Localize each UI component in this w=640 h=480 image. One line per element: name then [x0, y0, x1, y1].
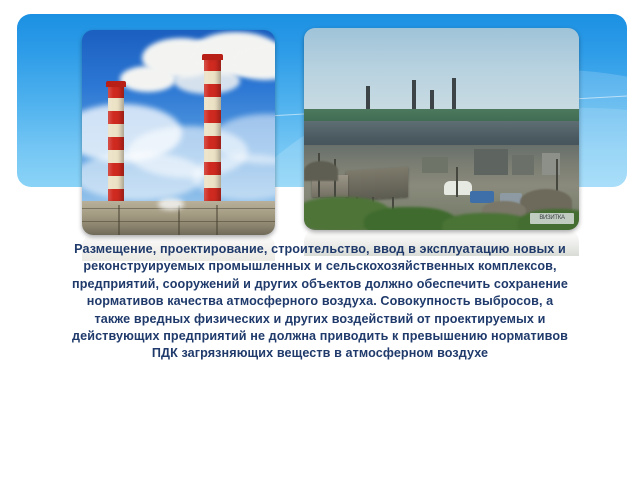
utility-pole-4	[556, 159, 558, 191]
building-2	[512, 155, 534, 175]
photo-industrial-town[interactable]: ВИЗИТКА	[304, 28, 579, 230]
smoke-plume-4	[120, 66, 176, 92]
building-4	[422, 157, 448, 173]
sky-haze	[304, 28, 579, 121]
utility-pole-3	[456, 167, 458, 197]
building-1	[474, 149, 508, 175]
smokestack-left	[108, 85, 124, 203]
blue-roof	[470, 191, 494, 203]
gravel-pile-3	[304, 161, 338, 181]
caption-text: Размещение, проектирование, строительств…	[70, 241, 570, 363]
photo-smokestacks[interactable]	[82, 30, 275, 235]
wall-seam-2	[178, 205, 180, 235]
smokestack-right-cap	[202, 54, 223, 60]
photo-industrial-town-content: ВИЗИТКА	[304, 28, 579, 230]
smokestack-right	[204, 58, 221, 203]
photo-smokestacks-content	[82, 30, 275, 235]
white-tent	[444, 181, 472, 195]
wall-seam-3	[216, 205, 218, 235]
smokestack-left-cap	[106, 81, 126, 87]
ground-steam	[158, 198, 184, 210]
slide-canvas: ВИЗИТКА Размещение, проектирование, стро…	[0, 0, 640, 480]
wall-seam-1	[118, 205, 120, 235]
photo-watermark: ВИЗИТКА	[530, 213, 574, 224]
